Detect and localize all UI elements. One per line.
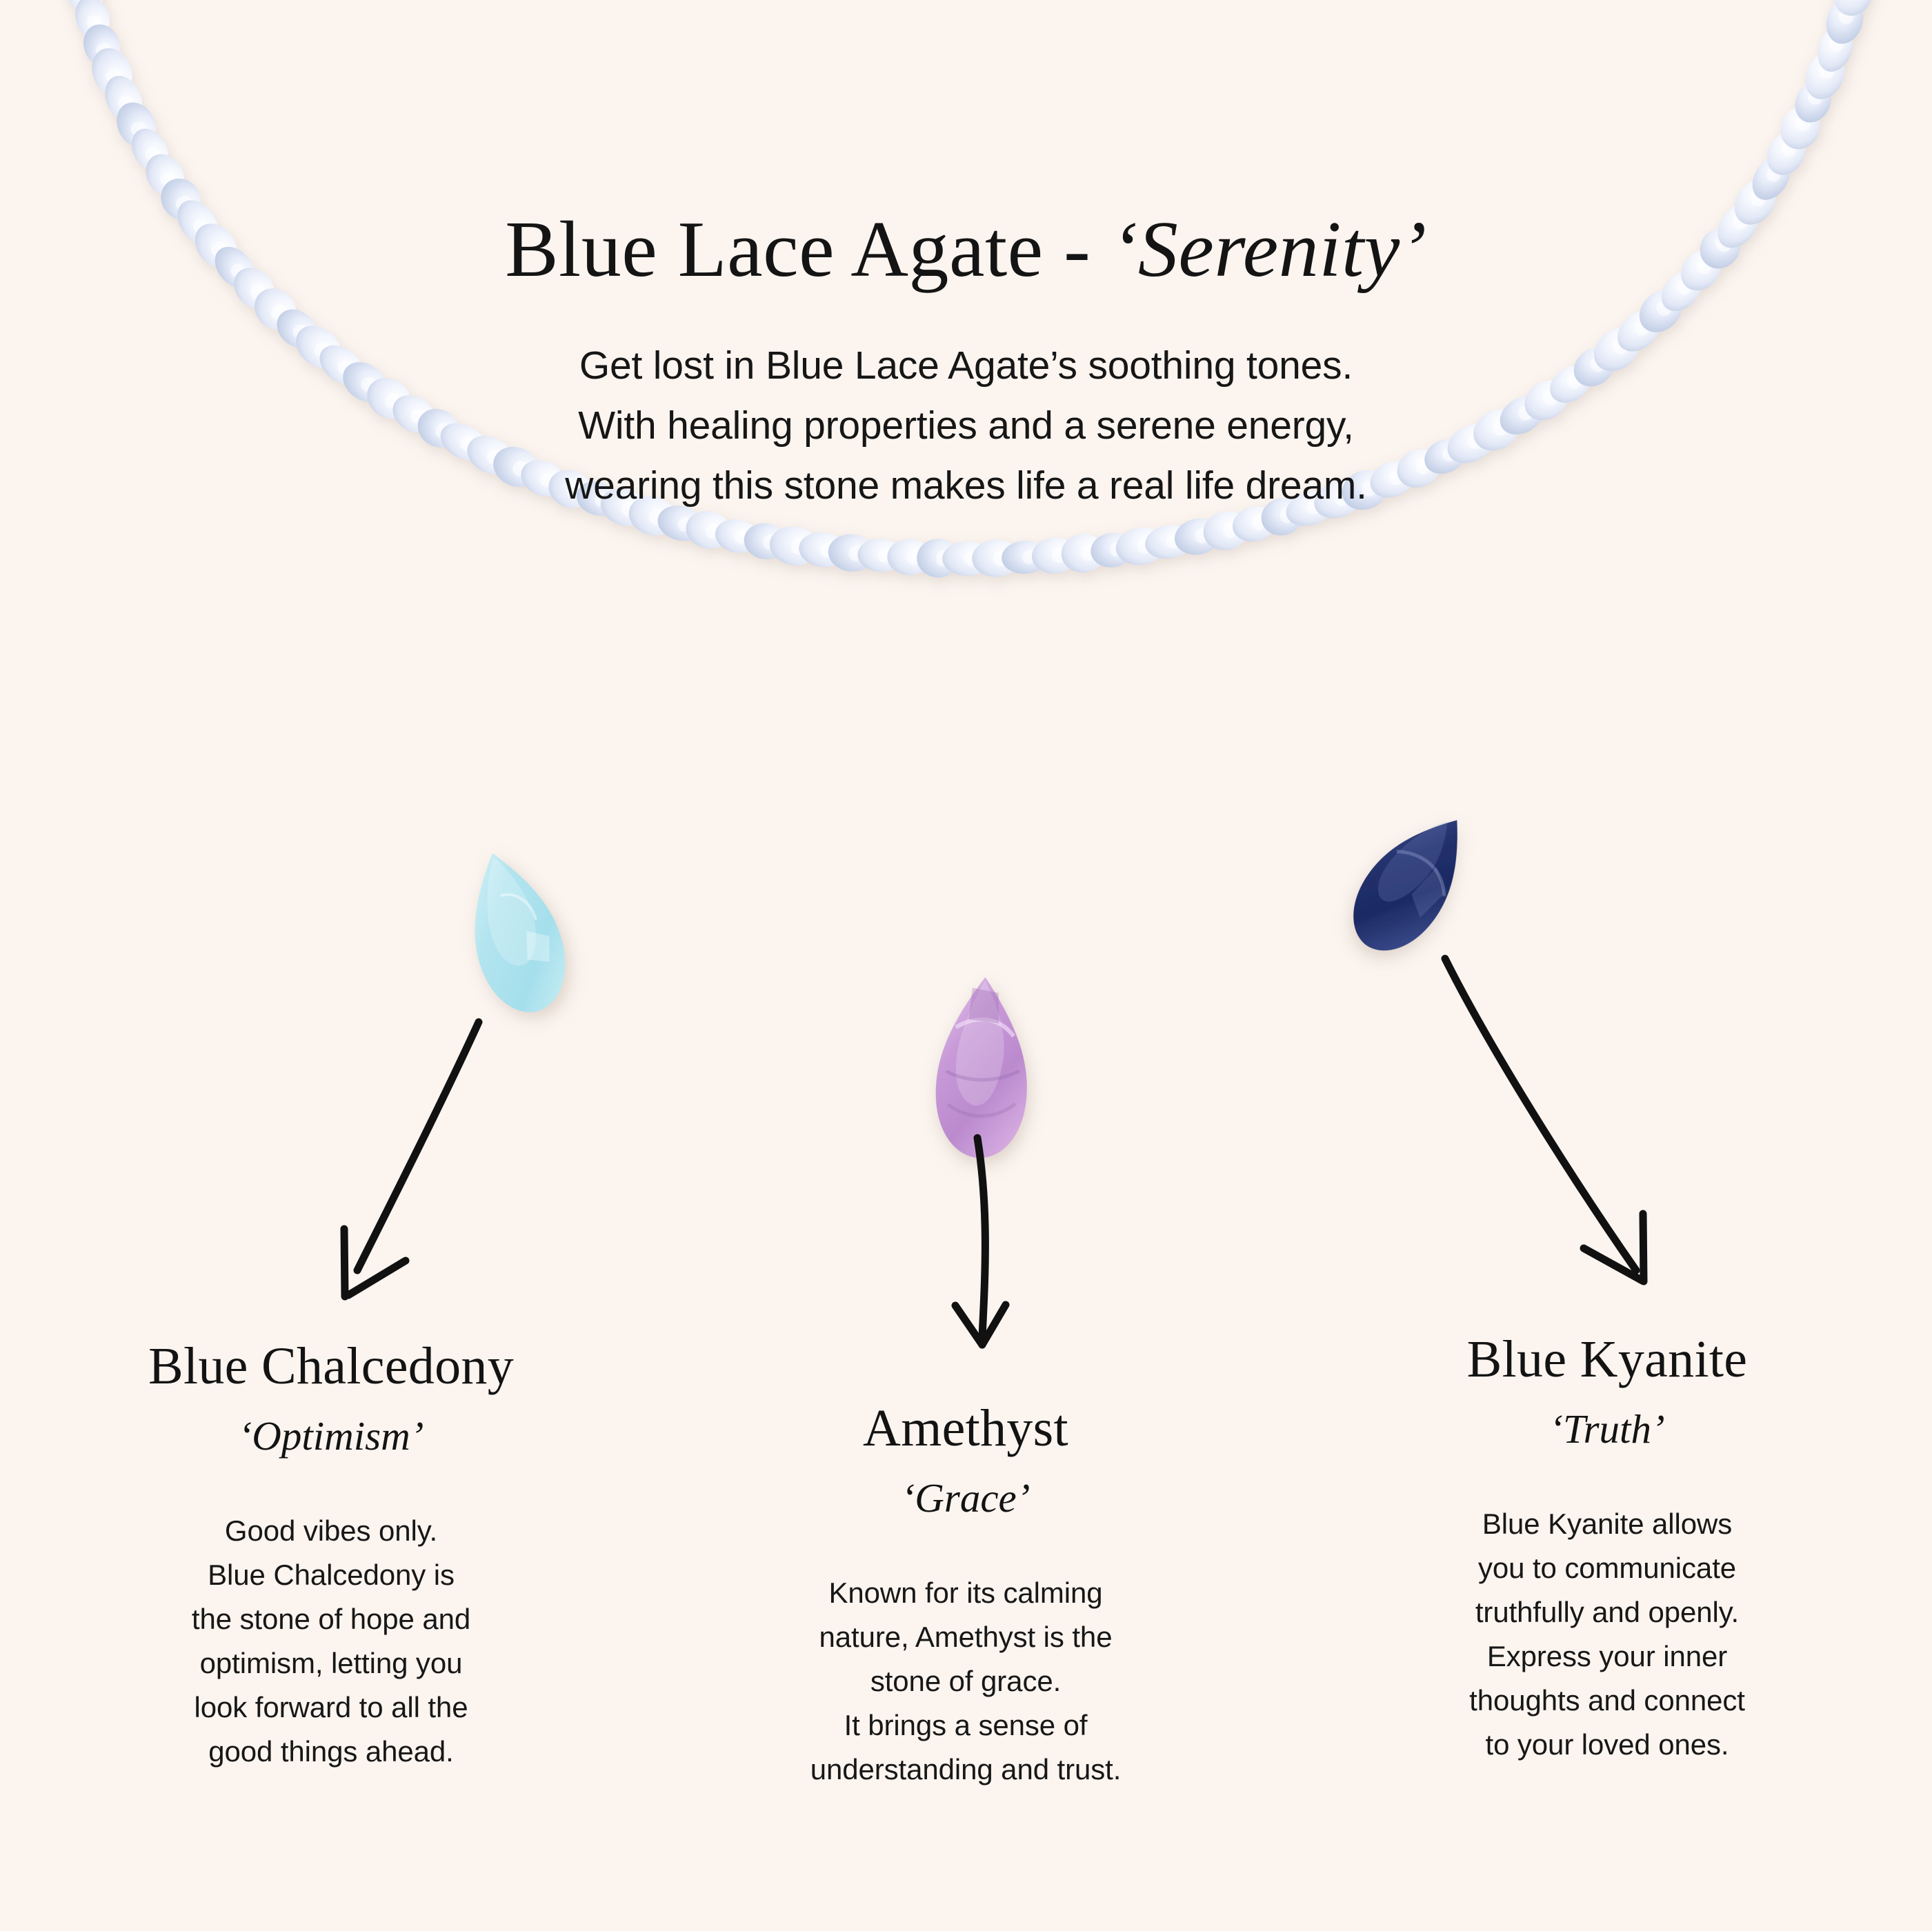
necklace-bead (78, 19, 126, 72)
desc-line: good things ahead. (69, 1730, 593, 1774)
desc-line: the stone of hope and (69, 1597, 593, 1641)
amethyst-drop (933, 976, 1030, 1159)
necklace-bead (1744, 150, 1797, 207)
stone-word-blue-kyanite: ‘Truth’ (1338, 1407, 1876, 1452)
desc-line: Blue Kyanite allows (1338, 1502, 1876, 1546)
necklace-bead (1760, 125, 1813, 182)
necklace-bead (797, 530, 849, 570)
necklace-bead-highlight (1193, 527, 1210, 544)
necklace-bead-highlight (964, 551, 979, 566)
necklace-bead-highlight (94, 41, 112, 58)
necklace-bead-highlight (1136, 537, 1153, 555)
stone-description-blue-chalcedony: Good vibes only. Blue Chalcedony is the … (69, 1509, 593, 1773)
necklace-bead-highlight (143, 144, 161, 163)
necklace-bead-highlight (103, 66, 124, 86)
necklace-bead (61, 0, 108, 17)
necklace-bead-highlight (1747, 188, 1769, 209)
necklace-bead (1142, 521, 1195, 562)
necklace-bead (138, 147, 192, 203)
necklace-bead-highlight (76, 0, 94, 3)
necklace-bead-highlight (1816, 61, 1836, 81)
stone-name-blue-chalcedony: Blue Chalcedony (69, 1338, 593, 1396)
necklace-bead-highlight (1222, 521, 1238, 539)
necklace-bead-highlight (1022, 550, 1036, 564)
necklace-bead (124, 122, 175, 178)
page-subtitle-line-2: With healing properties and a serene ene… (0, 396, 1932, 456)
necklace-bead-highlight (128, 119, 148, 139)
necklace-bead (1789, 75, 1838, 128)
desc-line: optimism, letting you (69, 1641, 593, 1685)
stone-word-amethyst: ‘Grace’ (704, 1476, 1228, 1521)
desc-line: Express your inner (1338, 1634, 1876, 1679)
page-title-main: Blue Lace Agate - (505, 206, 1111, 294)
desc-line: look forward to all the (69, 1685, 593, 1730)
necklace-bead (767, 523, 821, 569)
necklace-bead (1811, 20, 1859, 77)
necklace-bead-highlight (1165, 533, 1182, 549)
page-subtitle-line-1: Get lost in Blue Lace Agate’s soothing t… (0, 336, 1932, 396)
necklace-bead-highlight (1251, 514, 1267, 532)
necklace-bead (1798, 45, 1851, 105)
necklace-bead-highlight (1792, 114, 1813, 134)
necklace-bead (1773, 99, 1828, 157)
desc-line: thoughts and connect (1338, 1679, 1876, 1723)
necklace-bead (1171, 514, 1224, 559)
stone-card-amethyst: Amethyst ‘Grace’ Known for its calming n… (704, 1400, 1228, 1792)
necklace-bead-highlight (761, 533, 777, 550)
necklace-bead (972, 539, 1021, 578)
necklace-bead (713, 515, 762, 557)
necklace-bead (1113, 524, 1168, 568)
necklace-bead (916, 539, 959, 579)
necklace-bead (886, 538, 932, 576)
desc-line: Known for its calming (704, 1571, 1228, 1615)
necklace-bead (741, 520, 790, 563)
desc-line: understanding and trust. (704, 1748, 1228, 1792)
blue-kyanite-drop (1334, 797, 1490, 968)
necklace-bead (85, 42, 139, 103)
desc-line: Good vibes only. (69, 1509, 593, 1553)
necklace-bead-highlight (790, 537, 807, 555)
necklace-bead-highlight (993, 550, 1008, 566)
necklace-bead (1030, 536, 1079, 575)
stone-name-blue-kyanite: Blue Kyanite (1338, 1331, 1876, 1389)
arrow-to-blue-kyanite-icon (1445, 959, 1644, 1281)
headline-block: Blue Lace Agate - ‘Serenity’ Get lost in… (0, 207, 1932, 515)
necklace-bead-highlight (1764, 165, 1783, 184)
stone-card-blue-kyanite: Blue Kyanite ‘Truth’ Blue Kyanite allows… (1338, 1331, 1876, 1766)
necklace-bead-highlight (1778, 140, 1798, 159)
necklace-bead-highlight (1080, 544, 1095, 561)
necklace-bead-highlight (1109, 541, 1124, 557)
necklace-bead-highlight (157, 169, 177, 188)
necklace-bead-highlight (848, 545, 864, 562)
necklace-bead-highlight (1837, 8, 1855, 26)
page-title-accent: ‘Serenity’ (1111, 206, 1427, 294)
necklace-bead (1820, 0, 1869, 48)
necklace-bead-highlight (1806, 89, 1824, 107)
necklace-bead-highlight (906, 550, 920, 566)
necklace-bead-highlight (733, 529, 749, 546)
desc-line: stone of grace. (704, 1659, 1228, 1703)
stone-card-blue-chalcedony: Blue Chalcedony ‘Optimism’ Good vibes on… (69, 1338, 593, 1773)
necklace-bead-highlight (819, 542, 835, 558)
desc-line: to your loved ones. (1338, 1723, 1876, 1767)
necklace-bead (1001, 540, 1049, 575)
desc-line: Blue Chalcedony is (69, 1553, 593, 1597)
necklace-bead-highlight (1051, 548, 1066, 563)
necklace-bead (826, 532, 877, 574)
necklace-bead-highlight (116, 93, 135, 112)
necklace-bead (98, 70, 150, 128)
stone-description-amethyst: Known for its calming nature, Amethyst i… (704, 1571, 1228, 1791)
necklace-bead-highlight (877, 548, 892, 563)
necklace-bead (1829, 0, 1878, 20)
blue-chalcedony-drop (452, 841, 579, 1023)
necklace-bead (70, 0, 115, 44)
necklace-bead (1089, 530, 1135, 570)
page-title: Blue Lace Agate - ‘Serenity’ (0, 207, 1932, 293)
desc-line: truthfully and openly. (1338, 1590, 1876, 1634)
necklace-bead-highlight (676, 516, 693, 533)
desc-line: nature, Amethyst is the (704, 1615, 1228, 1659)
stone-word-blue-chalcedony: ‘Optimism’ (69, 1414, 593, 1459)
page-subtitle: Get lost in Blue Lace Agate’s soothing t… (0, 336, 1932, 515)
necklace-bead (109, 96, 163, 154)
desc-line: you to communicate (1338, 1546, 1876, 1590)
necklace-bead-highlight (85, 13, 102, 30)
necklace-bead (942, 541, 992, 576)
necklace-bead-highlight (1828, 35, 1846, 54)
page-subtitle-line-3: wearing this stone makes life a real lif… (0, 456, 1932, 516)
necklace-bead-highlight (704, 521, 721, 539)
product-infographic: Blue Lace Agate - ‘Serenity’ Get lost in… (0, 0, 1932, 1931)
arrow-to-amethyst-icon (955, 1138, 1006, 1345)
arrow-to-blue-chalcedony-icon (344, 1022, 479, 1297)
necklace-bead (857, 537, 904, 574)
stone-description-blue-kyanite: Blue Kyanite allows you to communicate t… (1338, 1502, 1876, 1766)
desc-line: It brings a sense of (704, 1703, 1228, 1748)
necklace-bead (1059, 532, 1107, 574)
stone-name-amethyst: Amethyst (704, 1400, 1228, 1458)
necklace-bead-highlight (936, 550, 949, 567)
